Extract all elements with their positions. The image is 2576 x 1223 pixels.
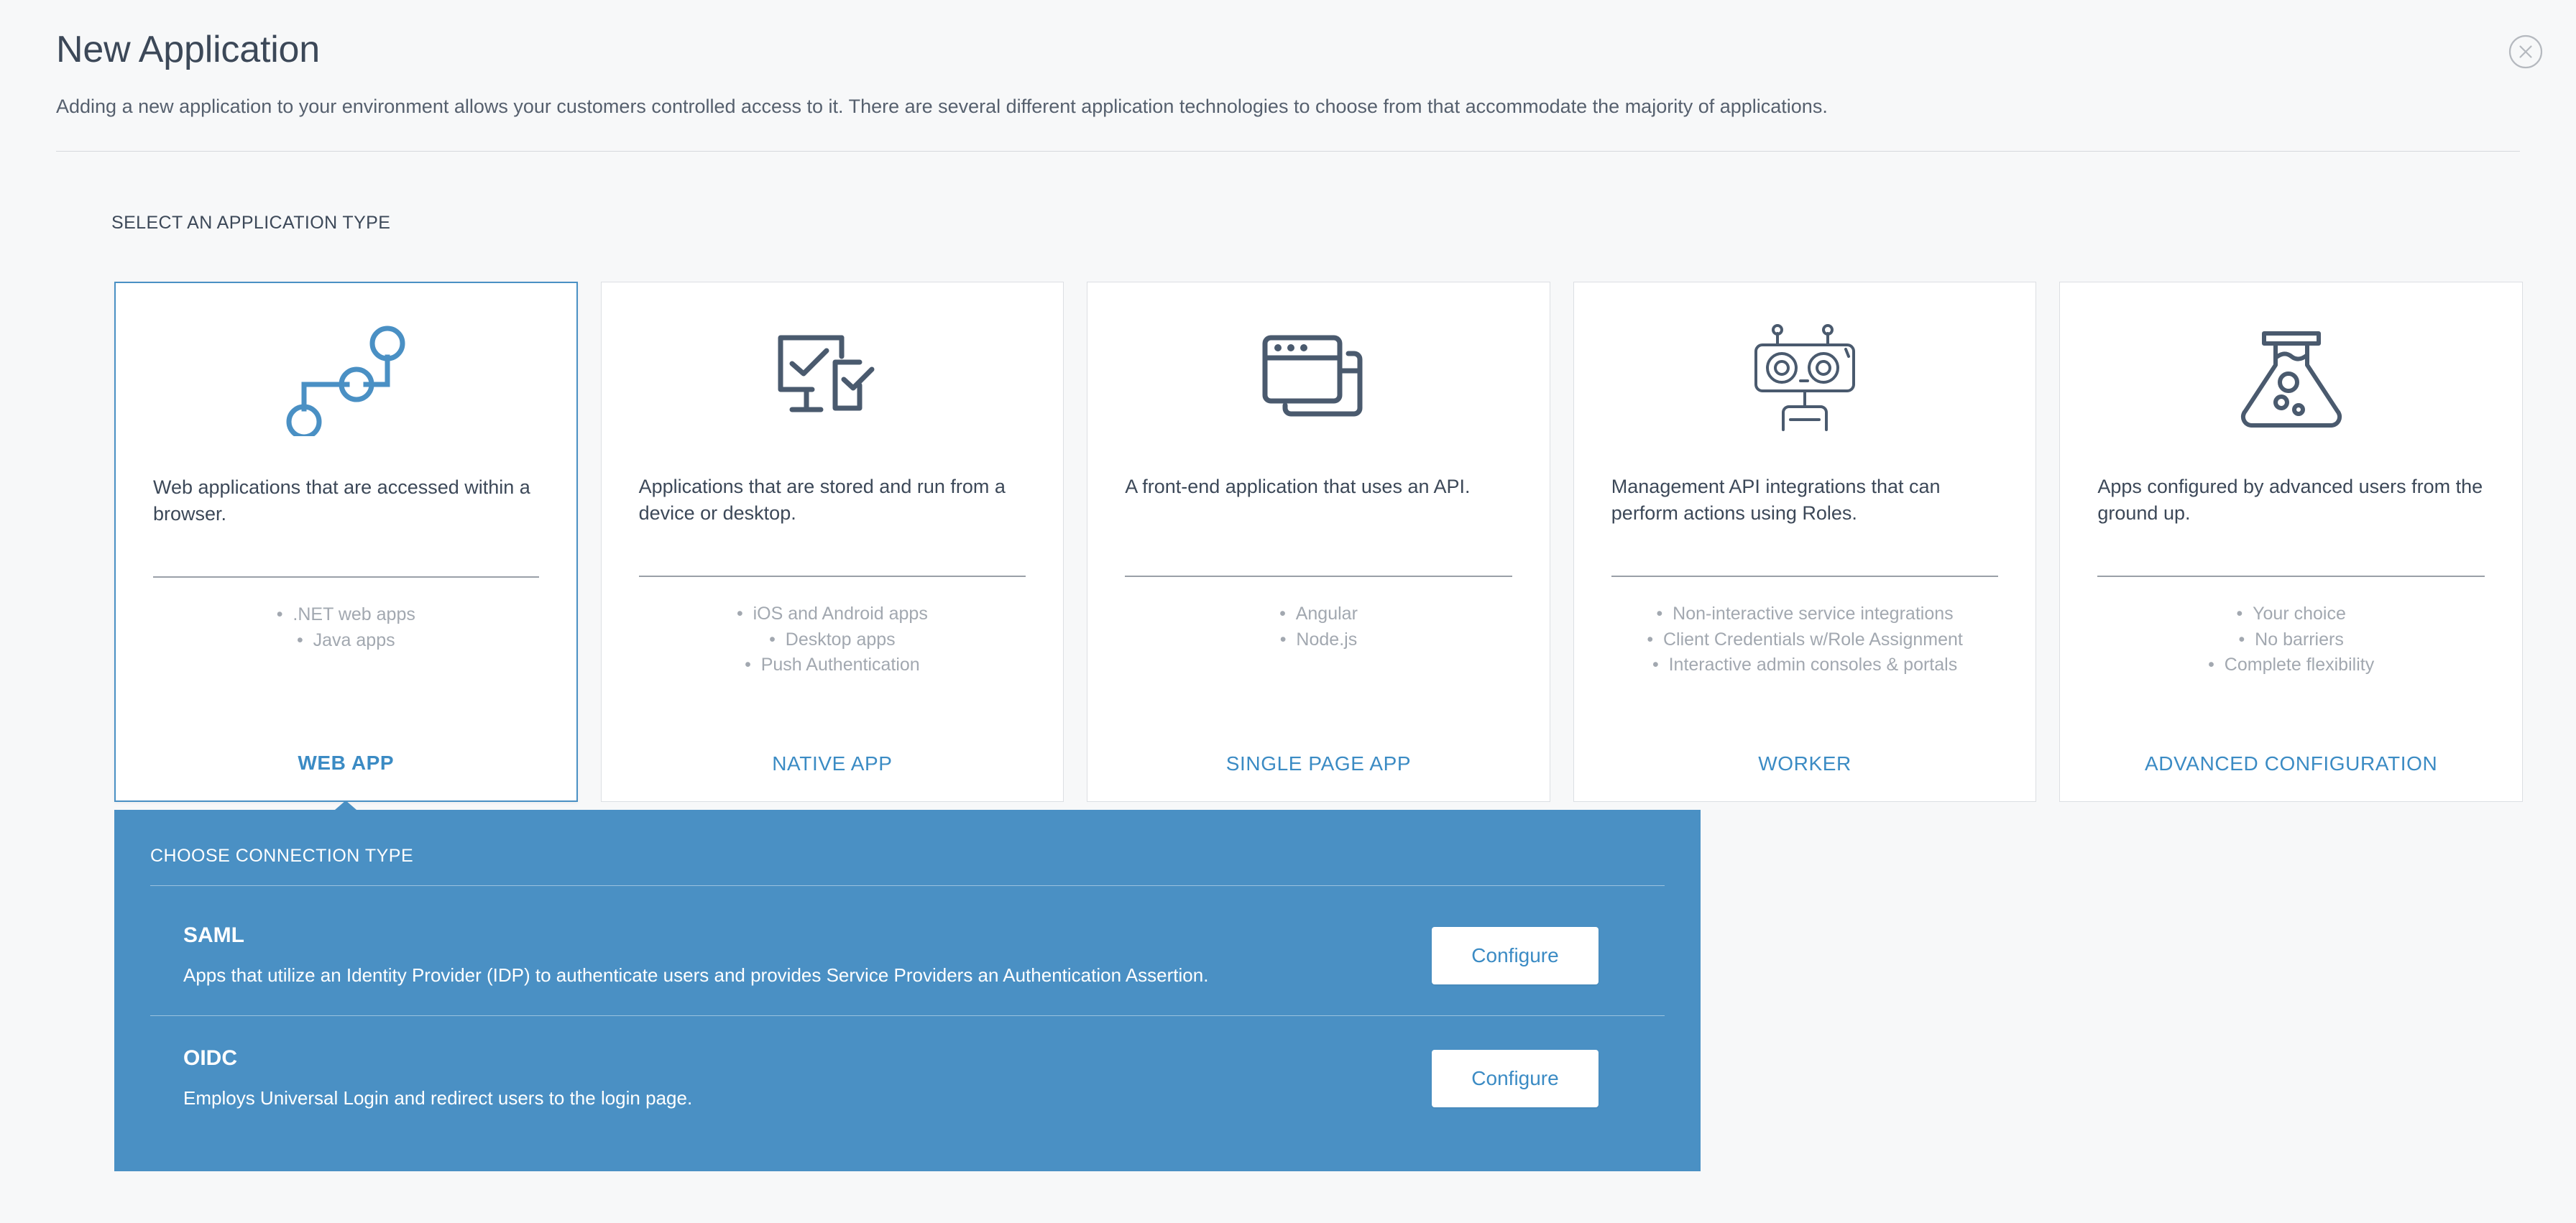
connection-description: Apps that utilize an Identity Provider (…	[183, 964, 1410, 988]
application-type-card-grid: Web applications that are accessed withi…	[114, 282, 2523, 802]
card-bullet-list: Your choice No barriers Complete flexibi…	[2097, 601, 2485, 739]
page-title: New Application	[56, 29, 2520, 72]
desktop-device-check-icon	[639, 288, 1026, 468]
list-item: iOS and Android apps	[639, 601, 1026, 627]
card-divider	[2097, 576, 2485, 577]
list-item: No barriers	[2097, 627, 2485, 653]
card-divider	[1611, 576, 1999, 577]
list-item: Desktop apps	[639, 627, 1026, 653]
list-item: Push Authentication	[639, 652, 1026, 678]
card-description: Applications that are stored and run fro…	[639, 474, 1026, 548]
configure-button-oidc[interactable]: Configure	[1432, 1050, 1598, 1107]
card-type-label[interactable]: WORKER	[1611, 739, 1999, 801]
page-subtitle: Adding a new application to your environ…	[56, 93, 2520, 121]
connection-panel-title: CHOOSE CONNECTION TYPE	[150, 837, 1665, 885]
card-description: A front-end application that uses an API…	[1125, 474, 1512, 548]
card-type-label[interactable]: SINGLE PAGE APP	[1125, 739, 1512, 801]
card-description: Apps configured by advanced users from t…	[2097, 474, 2485, 548]
card-type-label[interactable]: WEB APP	[153, 739, 539, 800]
card-type-label[interactable]: NATIVE APP	[639, 739, 1026, 801]
connection-description: Employs Universal Login and redirect use…	[183, 1086, 1410, 1111]
card-worker[interactable]: Management API integrations that can per…	[1573, 282, 2037, 802]
card-bullet-list: .NET web apps Java apps	[153, 602, 539, 739]
card-advanced-configuration[interactable]: Apps configured by advanced users from t…	[2059, 282, 2523, 802]
browser-windows-icon	[1125, 288, 1512, 468]
card-native-app[interactable]: Applications that are stored and run fro…	[601, 282, 1064, 802]
list-item: Interactive admin consoles & portals	[1611, 652, 1999, 678]
list-item: Node.js	[1125, 627, 1512, 653]
card-description: Management API integrations that can per…	[1611, 474, 1999, 548]
card-type-label[interactable]: ADVANCED CONFIGURATION	[2097, 739, 2485, 801]
header-divider	[56, 151, 2520, 152]
card-web-app[interactable]: Web applications that are accessed withi…	[114, 282, 578, 802]
nodes-graph-icon	[153, 289, 539, 469]
card-bullet-list: Angular Node.js	[1125, 601, 1512, 739]
list-item: Your choice	[2097, 601, 2485, 627]
list-item: Java apps	[153, 628, 539, 654]
list-item: Non-interactive service integrations	[1611, 601, 1999, 627]
page-header: New Application Adding a new application…	[56, 29, 2520, 121]
card-bullet-list: iOS and Android apps Desktop apps Push A…	[639, 601, 1026, 739]
robot-icon	[1611, 288, 1999, 468]
card-bullet-list: Non-interactive service integrations Cli…	[1611, 601, 1999, 739]
card-single-page-app[interactable]: A front-end application that uses an API…	[1087, 282, 1550, 802]
close-icon[interactable]	[2507, 33, 2544, 70]
section-label: SELECT AN APPLICATION TYPE	[111, 213, 390, 234]
configure-button-saml[interactable]: Configure	[1432, 927, 1598, 984]
selected-card-pointer	[324, 800, 367, 819]
connection-name: OIDC	[183, 1046, 1410, 1071]
connection-panel-title-divider	[150, 885, 1665, 886]
connection-row-oidc: OIDC Employs Universal Login and redirec…	[150, 1015, 1665, 1138]
connection-name: SAML	[183, 923, 1410, 948]
list-item: Angular	[1125, 601, 1512, 627]
card-description: Web applications that are accessed withi…	[153, 474, 539, 549]
list-item: .NET web apps	[153, 602, 539, 628]
list-item: Complete flexibility	[2097, 652, 2485, 678]
card-divider	[1125, 576, 1512, 577]
card-divider	[639, 576, 1026, 577]
connection-info: SAML Apps that utilize an Identity Provi…	[150, 923, 1432, 988]
connection-row-saml: SAML Apps that utilize an Identity Provi…	[150, 893, 1665, 1015]
card-divider	[153, 576, 539, 578]
flask-icon	[2097, 288, 2485, 468]
choose-connection-type-panel: CHOOSE CONNECTION TYPE SAML Apps that ut…	[114, 810, 1701, 1171]
new-application-page: New Application Adding a new application…	[0, 0, 2576, 1223]
list-item: Client Credentials w/Role Assignment	[1611, 627, 1999, 653]
connection-info: OIDC Employs Universal Login and redirec…	[150, 1046, 1432, 1111]
